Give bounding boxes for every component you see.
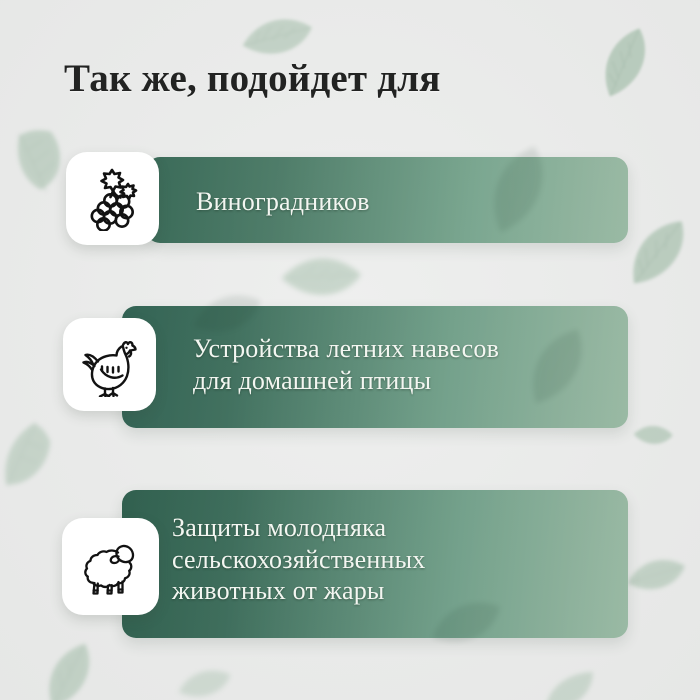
- leaf-icon: [0, 415, 61, 497]
- card-text-line: животных от жары: [172, 575, 425, 607]
- grapes-icon: [82, 167, 144, 231]
- chicken-icon: [77, 333, 143, 397]
- leaf-icon: [537, 668, 600, 700]
- page-title: Так же, подойдет для: [64, 58, 441, 101]
- icon-tile: [66, 152, 159, 245]
- card-text-line: Устройства летних навесов: [193, 333, 499, 365]
- card-text: Защиты молодняка сельскохозяйственных жи…: [172, 512, 425, 607]
- card-text-line: для домашней птицы: [193, 365, 499, 397]
- card-text-line: сельскохозяйственных: [172, 544, 425, 576]
- leaf-icon: [579, 20, 672, 106]
- leaf-icon: [175, 656, 235, 700]
- card-text-line: Защиты молодняка: [172, 512, 425, 544]
- leaf-icon: [618, 215, 699, 292]
- card-text: Устройства летних навесов для домашней п…: [193, 333, 499, 396]
- card-text: Виноградников: [196, 186, 370, 218]
- icon-tile: [62, 518, 159, 615]
- icon-tile: [63, 318, 156, 411]
- promo-slide: Так же, подойдет для Виноградников: [0, 0, 700, 700]
- leaf-icon: [629, 411, 677, 459]
- leaf-icon: [622, 540, 690, 610]
- card-text-line: Виноградников: [196, 186, 370, 218]
- leaf-icon: [29, 638, 108, 700]
- sheep-icon: [78, 538, 144, 596]
